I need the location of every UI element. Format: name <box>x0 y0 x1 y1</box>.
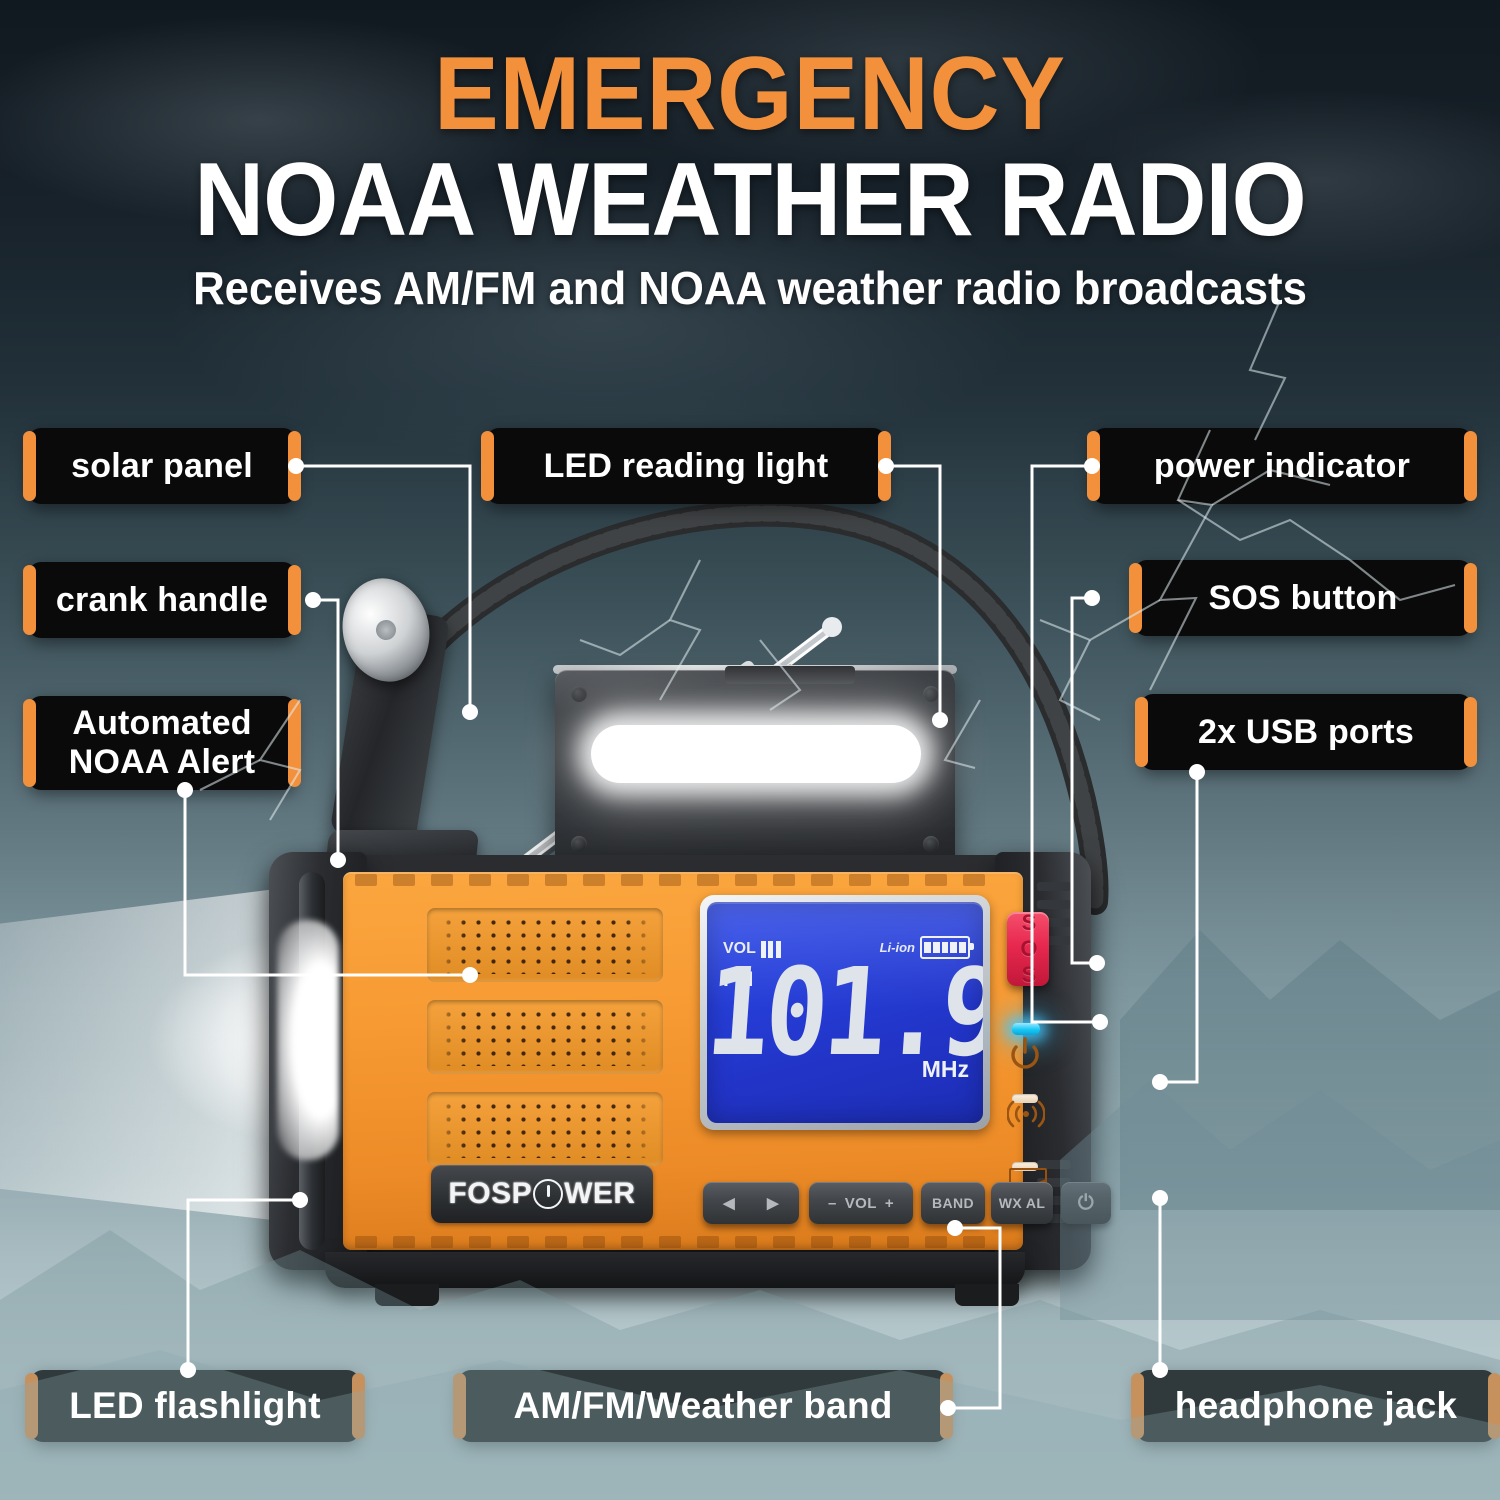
power-symbol-icon <box>533 1179 563 1209</box>
page-title-block: EMERGENCY NOAA WEATHER RADIO Receives AM… <box>0 46 1500 313</box>
top-notch-row <box>355 874 985 886</box>
page-title: NOAA WEATHER RADIO <box>53 148 1448 252</box>
band-button[interactable]: BAND <box>921 1182 985 1224</box>
power-icon <box>1008 1037 1042 1071</box>
callout-label: 2x USB ports <box>1198 713 1414 752</box>
title-emergency: EMERGENCY <box>53 46 1448 144</box>
radio-base <box>325 1252 1025 1288</box>
tune-left-icon[interactable]: ◀ <box>723 1194 735 1212</box>
speaker-grille <box>427 1092 663 1166</box>
callout-led-reading-light[interactable]: LED reading light <box>486 428 886 504</box>
speaker-grille <box>427 908 663 982</box>
callout-usb-ports[interactable]: 2x USB ports <box>1140 694 1472 770</box>
volume-button-label: VOL <box>845 1195 877 1212</box>
wx-alert-button-label: WX AL <box>999 1195 1046 1211</box>
callout-solar-panel[interactable]: solar panel <box>28 428 296 504</box>
callout-label: crank handle <box>56 581 268 620</box>
sos-button-label: SOS <box>1019 910 1038 988</box>
crank-hub <box>374 618 398 642</box>
subtitle: Receives AM/FM and NOAA weather radio br… <box>38 264 1463 313</box>
screw-icon <box>571 836 587 852</box>
callout-automated-noaa-alert[interactable]: Automated NOAA Alert <box>28 696 296 790</box>
product-radio: FOSP WER VOL FM Li-ion 101.9 MHz SOS <box>255 500 1155 1320</box>
radio-foot <box>375 1284 439 1306</box>
callout-power-indicator[interactable]: power indicator <box>1092 428 1472 504</box>
power-button[interactable]: ⏻ <box>1061 1182 1111 1224</box>
callout-am-fm-weather-band[interactable]: AM/FM/Weather band <box>458 1370 948 1442</box>
wireless-signal-icon <box>1007 1100 1045 1128</box>
callout-label: AM/FM/Weather band <box>513 1385 892 1427</box>
led-reading-light[interactable] <box>591 725 921 783</box>
frequency-readout: 101.9 <box>707 952 983 1073</box>
bottom-notch-row <box>355 1236 985 1248</box>
speaker-grille <box>427 1000 663 1074</box>
tuning-buttons[interactable]: ◀ ▶ <box>703 1182 799 1224</box>
band-button-label: BAND <box>932 1195 974 1211</box>
led-flashlight[interactable] <box>277 920 339 1160</box>
screw-icon <box>923 686 939 702</box>
frequency-unit: MHz <box>922 1056 969 1083</box>
callout-label: LED reading light <box>544 447 829 486</box>
screw-icon <box>571 686 587 702</box>
power-button-icon: ⏻ <box>1078 1192 1094 1215</box>
screw-icon <box>923 836 939 852</box>
callout-label: power indicator <box>1154 447 1410 486</box>
lcd-display: VOL FM Li-ion 101.9 MHz <box>707 902 983 1123</box>
wx-alert-button[interactable]: WX AL <box>991 1182 1053 1224</box>
volume-minus-icon[interactable]: – <box>828 1195 837 1212</box>
vent-fin <box>1037 882 1071 891</box>
callout-headphone-jack[interactable]: headphone jack <box>1136 1370 1496 1442</box>
callout-sos-button[interactable]: SOS button <box>1134 560 1472 636</box>
callout-label: headphone jack <box>1175 1385 1457 1427</box>
brand-name-prefix: FOSP <box>448 1177 532 1211</box>
brand-name-suffix: WER <box>564 1177 636 1211</box>
solar-panel-latch <box>725 666 855 684</box>
sos-button[interactable]: SOS <box>1007 912 1049 986</box>
volume-button[interactable]: – VOL + <box>809 1182 913 1224</box>
radio-foot <box>955 1284 1019 1306</box>
callout-crank-handle[interactable]: crank handle <box>28 562 296 638</box>
callout-label: solar panel <box>71 447 253 486</box>
callout-led-flashlight[interactable]: LED flashlight <box>30 1370 360 1442</box>
power-indicator-led <box>1012 1023 1040 1035</box>
callout-label: SOS button <box>1209 579 1398 618</box>
brand-logo: FOSP WER <box>431 1165 653 1223</box>
callout-label: Automated NOAA Alert <box>69 704 256 782</box>
volume-plus-icon[interactable]: + <box>885 1195 894 1212</box>
vent-fin <box>1037 900 1071 909</box>
tune-right-icon[interactable]: ▶ <box>767 1194 779 1212</box>
infographic-canvas: EMERGENCY NOAA WEATHER RADIO Receives AM… <box>0 0 1500 1500</box>
callout-label: LED flashlight <box>69 1385 321 1427</box>
